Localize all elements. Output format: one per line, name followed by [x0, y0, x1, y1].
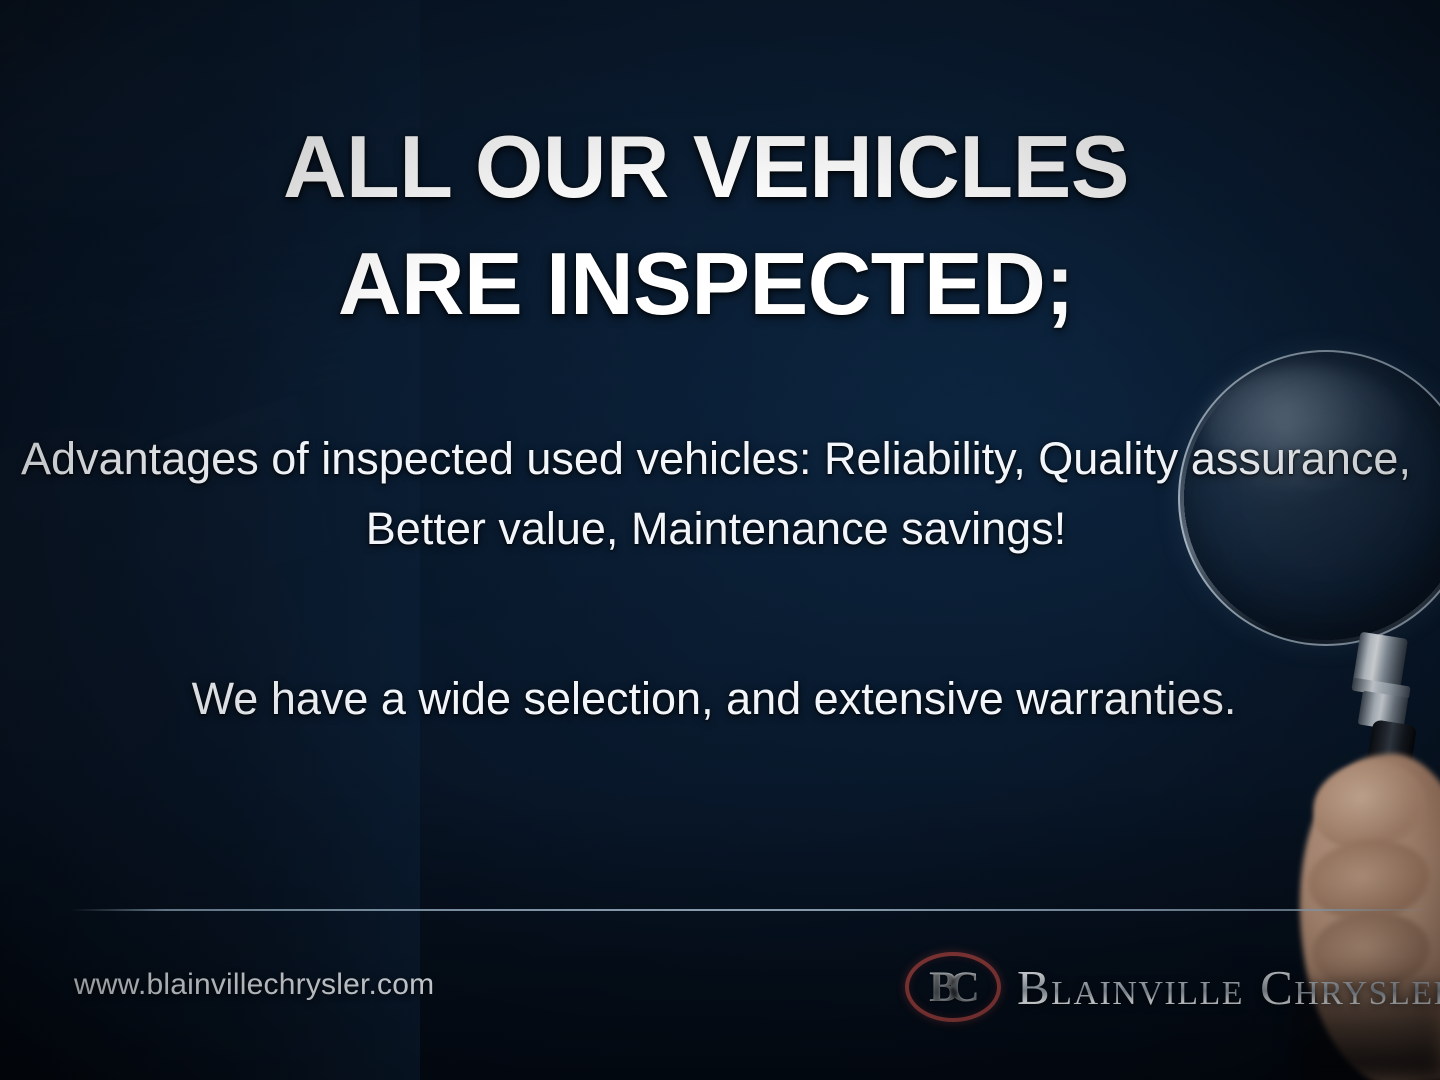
- promo-slide: ALL OUR VEHICLES ARE INSPECTED; Advantag…: [0, 0, 1440, 1080]
- logo-word-blainville: Blainville: [1017, 960, 1244, 1015]
- page-title: ALL OUR VEHICLES ARE INSPECTED;: [0, 108, 1440, 342]
- logo-mark-bc: BC: [905, 952, 1001, 1022]
- website-url[interactable]: www.blainvillechrysler.com: [74, 968, 434, 1002]
- logo-wordmark: BlainvilleChrysler: [1017, 959, 1440, 1016]
- logo-word-chrysler: Chrysler: [1260, 960, 1440, 1015]
- footer-divider: [70, 909, 1432, 911]
- body-paragraph-selection: We have a wide selection, and extensive …: [0, 664, 1440, 734]
- brand-logo[interactable]: BC BlainvilleChrysler: [905, 952, 1440, 1022]
- body-paragraph-advantages: Advantages of inspected used vehicles: R…: [0, 424, 1440, 564]
- logo-monogram: BC: [905, 952, 1001, 1022]
